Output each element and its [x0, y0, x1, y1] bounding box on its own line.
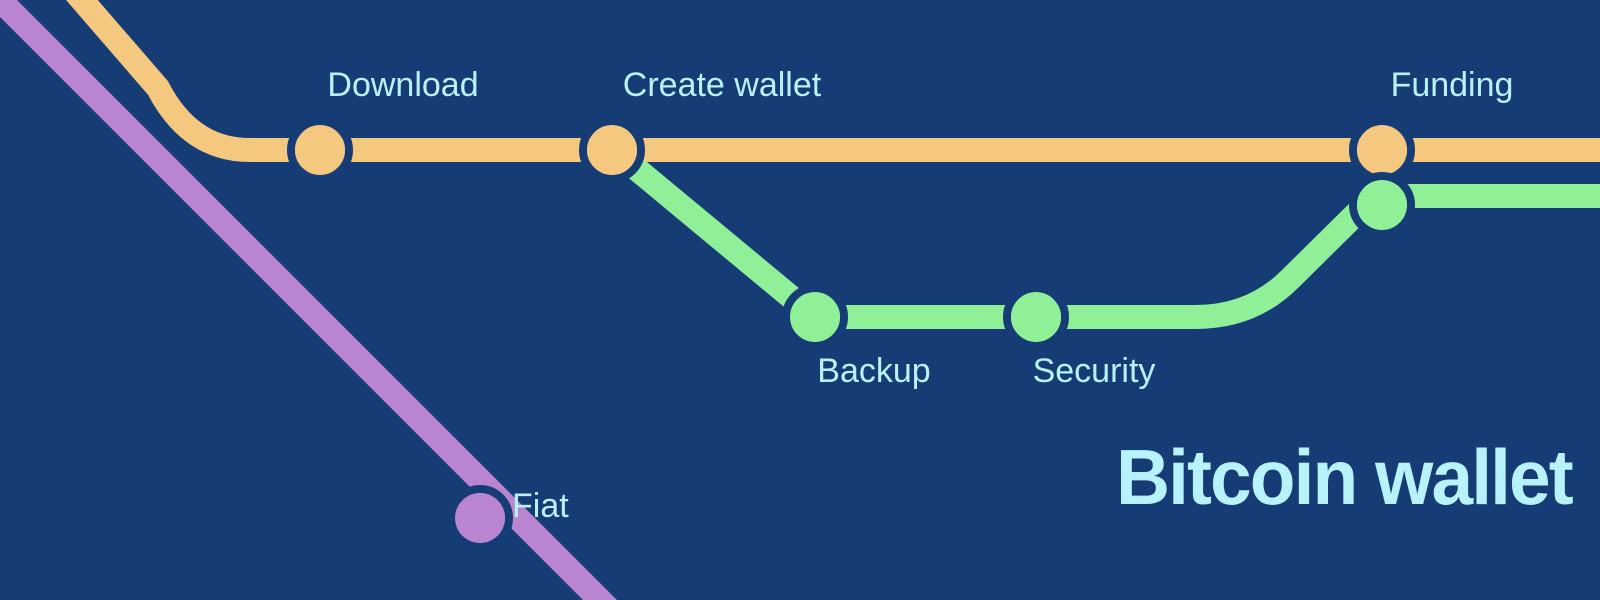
station-fiat-marker[interactable]: [455, 493, 505, 543]
station-funding-orange-marker[interactable]: [1357, 125, 1407, 175]
station-label-funding[interactable]: Funding: [1391, 68, 1514, 102]
station-download-marker[interactable]: [295, 125, 345, 175]
station-label-backup[interactable]: Backup: [817, 354, 930, 388]
station-funding-green-marker[interactable]: [1357, 180, 1407, 230]
green-line-group: [604, 142, 1600, 317]
green-line-path[interactable]: [604, 142, 1600, 317]
station-label-fiat[interactable]: Fiat: [512, 489, 569, 523]
map-title: Bitcoin wallet: [1116, 438, 1572, 516]
station-security-marker[interactable]: [1011, 292, 1061, 342]
station-label-create-wallet[interactable]: Create wallet: [623, 68, 821, 102]
station-backup-marker[interactable]: [790, 292, 840, 342]
transit-map-canvas: Download Create wallet Funding Backup Se…: [0, 0, 1600, 600]
station-create-wallet-marker[interactable]: [587, 125, 637, 175]
station-label-download[interactable]: Download: [327, 68, 478, 102]
station-label-security[interactable]: Security: [1033, 354, 1156, 388]
